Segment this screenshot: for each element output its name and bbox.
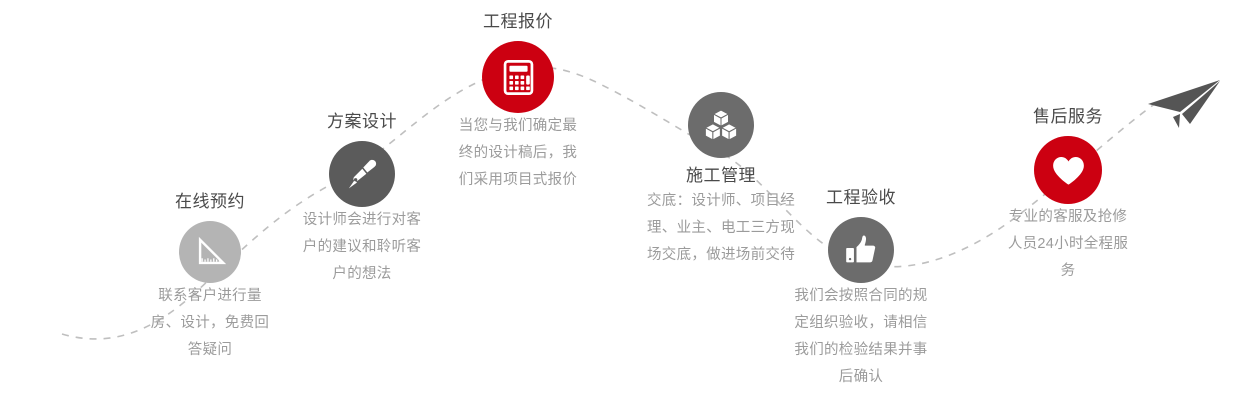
step-description-project-quotation: 当您与我们确定最终的设计稿后，我们采用项目式报价 <box>443 113 593 194</box>
thumbs-up-icon-glyph <box>841 230 881 270</box>
description-line: 后确认 <box>779 364 943 391</box>
step-online-booking[interactable]: 在线预约 联系客户进行量房、设计，免费回答疑问 <box>135 190 285 364</box>
thumbs-up-icon[interactable] <box>828 217 894 283</box>
step-project-quotation[interactable]: 工程报价 当您与我们确定最终的设计稿后，我们采用项目式报价 <box>443 10 593 194</box>
heart-icon-glyph <box>1048 150 1089 191</box>
description-line: 人员24小时全程服 <box>988 231 1148 258</box>
description-line: 当您与我们确定最 <box>443 113 593 140</box>
heart-icon[interactable] <box>1034 136 1102 204</box>
step-title-after-sales-service: 售后服务 <box>988 105 1148 129</box>
pen-nib-icon-glyph <box>342 154 382 194</box>
cubes-icon-glyph <box>701 105 741 145</box>
step-description-online-booking: 联系客户进行量房、设计，免费回答疑问 <box>140 283 280 364</box>
description-line: 房、设计，免费回 <box>140 310 280 337</box>
step-title-scheme-design: 方案设计 <box>287 110 437 134</box>
description-line: 设计师会进行对客 <box>287 207 437 234</box>
calculator-icon-glyph <box>497 56 540 99</box>
paper-plane-icon <box>1146 78 1222 130</box>
step-title-construction-management: 施工管理 <box>611 164 831 188</box>
description-line: 户的想法 <box>287 261 437 288</box>
step-description-project-acceptance: 我们会按照合同的规定组织验收，请相信我们的检验结果并事后确认 <box>779 283 943 391</box>
calculator-icon[interactable] <box>482 41 554 113</box>
description-line: 我们会按照合同的规 <box>779 283 943 310</box>
description-line: 专业的客服及抢修 <box>988 204 1148 231</box>
step-title-project-acceptance: 工程验收 <box>779 186 943 210</box>
pen-nib-icon[interactable] <box>329 141 395 207</box>
step-description-after-sales-service: 专业的客服及抢修人员24小时全程服务 <box>988 204 1148 285</box>
description-line: 我们的检验结果并事 <box>779 337 943 364</box>
step-project-acceptance[interactable]: 工程验收 我们会按照合同的规定组织验收，请相信我们的检验结果并事后确认 <box>779 186 943 391</box>
step-description-scheme-design: 设计师会进行对客户的建议和聆听客户的想法 <box>287 207 437 288</box>
step-title-project-quotation: 工程报价 <box>443 10 593 34</box>
ruler-triangle-icon-glyph <box>192 234 229 271</box>
cubes-icon[interactable] <box>688 92 754 158</box>
description-line: 们采用项目式报价 <box>443 167 593 194</box>
description-line: 答疑问 <box>140 337 280 364</box>
process-flow-diagram: 在线预约 联系客户进行量房、设计，免费回答疑问方案设计 设计师会进行对客户的建议… <box>0 0 1245 402</box>
description-line: 定组织验收，请相信 <box>779 310 943 337</box>
description-line: 户的建议和聆听客 <box>287 234 437 261</box>
step-scheme-design[interactable]: 方案设计 设计师会进行对客户的建议和聆听客户的想法 <box>287 110 437 288</box>
description-line: 联系客户进行量 <box>140 283 280 310</box>
description-line: 终的设计稿后，我 <box>443 140 593 167</box>
step-after-sales-service[interactable]: 售后服务 专业的客服及抢修人员24小时全程服务 <box>988 105 1148 285</box>
ruler-triangle-icon[interactable] <box>179 221 241 283</box>
description-line: 务 <box>988 258 1148 285</box>
step-title-online-booking: 在线预约 <box>135 190 285 214</box>
